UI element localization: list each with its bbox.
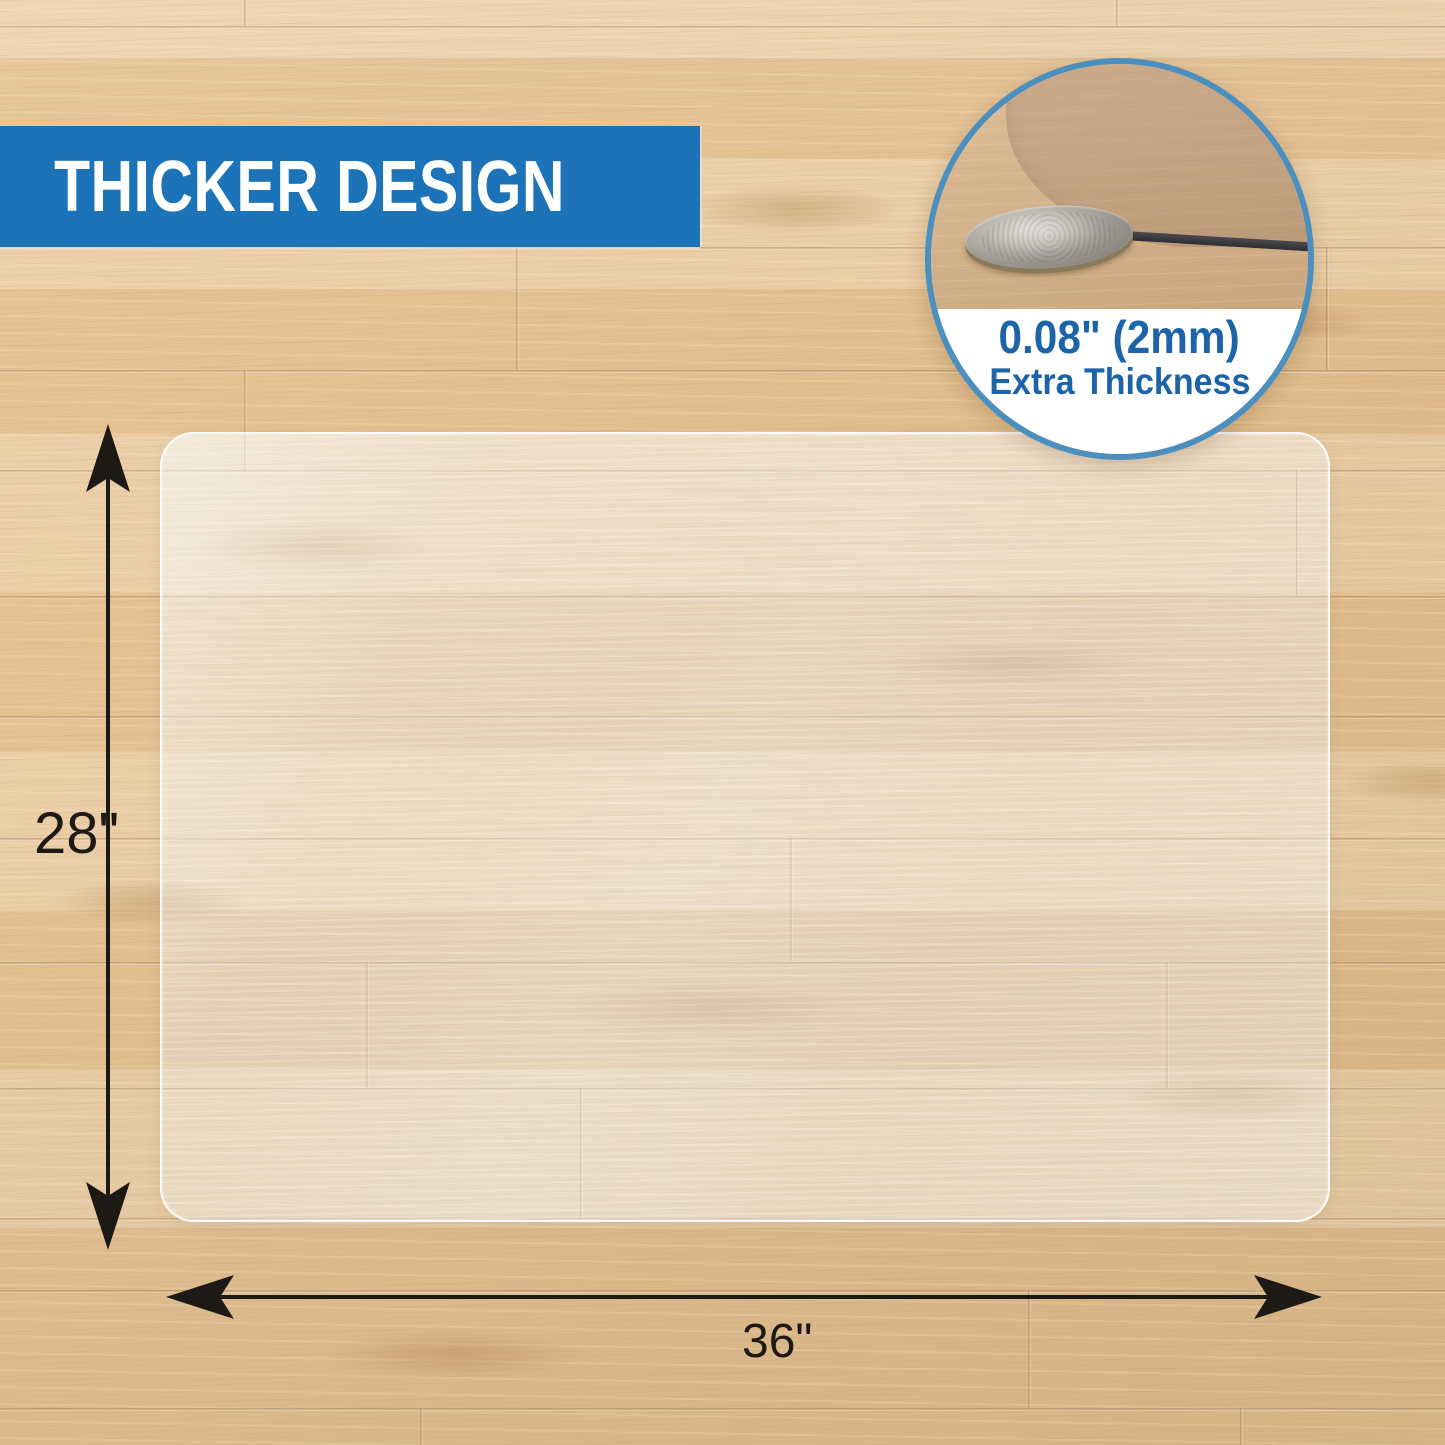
plank-seam <box>0 26 1445 29</box>
plank-butt-joint <box>516 247 519 370</box>
plank-butt-joint <box>1116 0 1119 26</box>
coin-face-detail <box>980 208 1118 267</box>
plank-butt-joint <box>1240 1408 1243 1445</box>
badge-closeup-photo <box>931 64 1308 312</box>
plank-butt-joint <box>420 1408 423 1445</box>
transparent-chair-mat <box>160 432 1330 1222</box>
wood-knot <box>330 1330 580 1380</box>
wood-knot <box>690 185 900 233</box>
thicker-design-banner: THICKER DESIGN <box>0 126 700 247</box>
banner-label: THICKER DESIGN <box>54 146 565 228</box>
plank-seam <box>0 1408 1445 1411</box>
product-image-canvas: 28" 36" THICKER DESIGN 0.08" (2mm) Extra… <box>0 0 1445 1445</box>
plank-butt-joint <box>1326 247 1329 370</box>
badge-label-panel: 0.08" (2mm) Extra Thickness <box>931 309 1308 454</box>
plank-butt-joint <box>244 0 247 26</box>
mat-sheen-highlight <box>160 432 1330 1222</box>
badge-thickness-caption: Extra Thickness <box>989 362 1250 402</box>
mat-width-label: 36" <box>742 1314 812 1369</box>
thickness-callout-badge: 0.08" (2mm) Extra Thickness <box>925 58 1314 460</box>
mat-height-label: 28" <box>34 800 119 867</box>
badge-thickness-value: 0.08" (2mm) <box>999 312 1240 362</box>
